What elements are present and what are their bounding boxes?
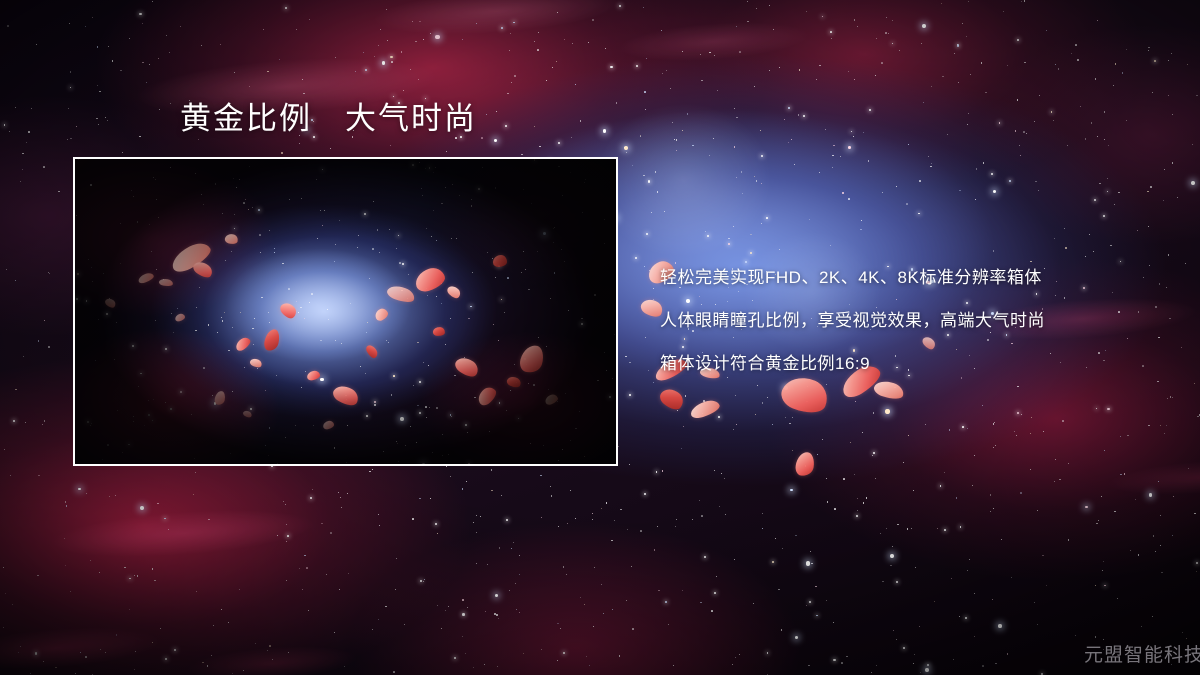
watermark: 元盟智能科技 — [1084, 640, 1200, 667]
page-title: 黄金比例 大气时尚 — [180, 100, 477, 139]
slide-canvas: 黄金比例 大气时尚 轻松完美实现FHD、2K、4K、8K标准分辨率箱体 人体眼睛… — [0, 0, 1200, 675]
body-copy-line-3: 箱体设计符合黄金比例16:9 — [660, 342, 1045, 385]
body-copy-line-2: 人体眼睛瞳孔比例，享受视觉效果，高端大气时尚 — [660, 299, 1045, 342]
body-copy: 轻松完美实现FHD、2K、4K、8K标准分辨率箱体 人体眼睛瞳孔比例，享受视觉效… — [660, 256, 1045, 385]
framed-image-content — [75, 159, 616, 464]
framed-image-vignette — [75, 159, 616, 464]
body-copy-line-1: 轻松完美实现FHD、2K、4K、8K标准分辨率箱体 — [660, 256, 1045, 299]
framed-image — [73, 157, 618, 466]
